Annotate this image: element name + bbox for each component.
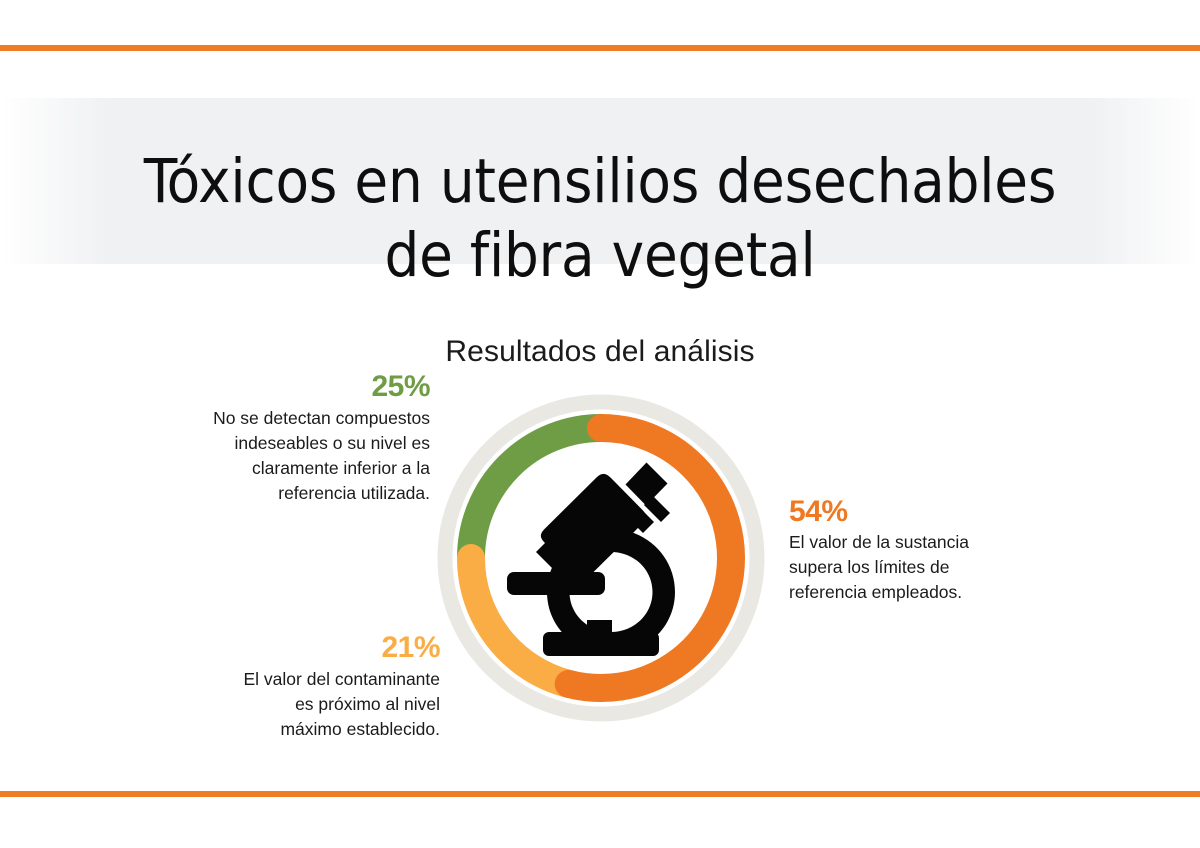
microscope-icon-svg: [507, 460, 695, 656]
callout-percent-orange: 54%: [789, 497, 1029, 527]
donut-chart: [437, 394, 765, 722]
callout-description-amber: El valor del contaminante es próximo al …: [130, 667, 440, 742]
callout-description-green: No se detectan compuestos indeseables o …: [105, 406, 430, 506]
callout-proximo-al-limite: 21% El valor del contaminante es próximo…: [130, 633, 440, 742]
microscope-icon: [501, 456, 701, 660]
callout-description-orange: El valor de la sustancia supera los lími…: [789, 530, 1029, 605]
callout-no-detectado: 25% No se detectan compuestos indeseable…: [105, 372, 430, 506]
infographic-canvas: Tóxicos en utensilios desechables de fib…: [0, 0, 1200, 848]
callout-percent-green: 25%: [105, 372, 430, 402]
top-accent-rule: [0, 45, 1200, 51]
callout-supera-limite: 54% El valor de la sustancia supera los …: [789, 497, 1029, 605]
callout-percent-amber: 21%: [130, 633, 440, 663]
bottom-accent-rule: [0, 791, 1200, 797]
page-title: Tóxicos en utensilios desechables de fib…: [0, 145, 1200, 293]
section-subtitle: Resultados del análisis: [0, 335, 1200, 369]
